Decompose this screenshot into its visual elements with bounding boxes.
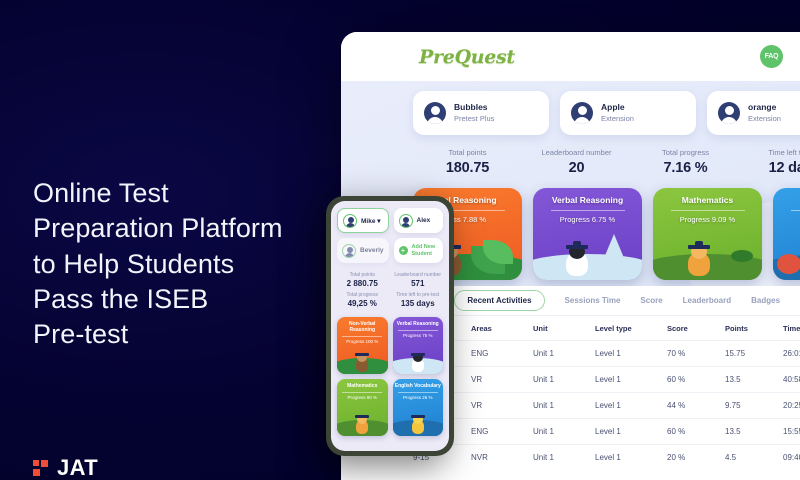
phone-stat-total-points: Total points 2 880.75 bbox=[337, 272, 388, 288]
tab-recent-activities[interactable]: Recent Activities bbox=[454, 290, 544, 311]
phone-mockup: Mike ▾ Alex Beverly + Add New Student bbox=[326, 196, 454, 456]
logo-text: JATAPP bbox=[57, 455, 98, 480]
student-name: Alex bbox=[417, 217, 431, 224]
poster-canvas: Online Test Preparation Platform to Help… bbox=[0, 0, 800, 480]
subject-title: Mathematics bbox=[337, 379, 388, 389]
subject-card-english[interactable]: English Progress 4.92 bbox=[773, 188, 800, 280]
cell-unit: Unit 1 bbox=[533, 419, 595, 445]
page-title: Online Test Preparation Platform to Help… bbox=[33, 176, 333, 353]
cell-points: 15.75 bbox=[725, 341, 783, 367]
cell-time: 15:55 bbox=[783, 419, 800, 445]
cell-time: 09:40 bbox=[783, 445, 800, 471]
divider bbox=[671, 210, 745, 211]
subject-progress: Progress 75 % bbox=[393, 333, 444, 338]
cell-area: NVR bbox=[471, 445, 533, 471]
subject-progress: Progress 100 % bbox=[337, 339, 388, 344]
cell-level: Level 1 bbox=[595, 445, 667, 471]
cell-points: 9.75 bbox=[725, 393, 783, 419]
col-time: Time bbox=[783, 316, 800, 341]
table-row[interactable]: 9-17 VR Unit 1 Level 1 60 % 13.5 40:58 1… bbox=[413, 367, 800, 393]
phone-stat-leaderboard: Leaderboard number 571 bbox=[393, 272, 444, 288]
student-avatar-icon bbox=[343, 214, 357, 228]
cell-unit: Unit 1 bbox=[533, 445, 595, 471]
stat-leaderboard-number: Leaderboard number 20 bbox=[522, 148, 631, 176]
cell-level: Level 1 bbox=[595, 393, 667, 419]
phone-subject-card-vr[interactable]: Verbal Reasoning Progress 75 % bbox=[393, 317, 444, 374]
col-score: Score bbox=[667, 316, 725, 341]
faq-button[interactable]: FAQ bbox=[760, 45, 783, 68]
tab-badges[interactable]: Badges bbox=[751, 296, 780, 305]
subject-progress: Progress 9.09 % bbox=[653, 215, 762, 224]
logo-squares-icon bbox=[33, 460, 50, 477]
subject-illustration bbox=[533, 222, 642, 280]
logo-jat: JAT bbox=[57, 455, 98, 480]
subject-title: Non-Verbal Reasoning bbox=[337, 317, 388, 333]
table-row[interactable]: 9-15 ENG Unit 1 Level 1 60 % 13.5 15:55 … bbox=[413, 419, 800, 445]
prequest-logo[interactable]: PreQuest bbox=[419, 46, 515, 68]
stat-value: 180.75 bbox=[413, 160, 522, 176]
phone-subject-card-english[interactable]: English Vocabulary Progress 26 % bbox=[393, 379, 444, 436]
student-card[interactable]: Apple Extension bbox=[560, 91, 696, 135]
cell-area: ENG bbox=[471, 341, 533, 367]
stat-value: 7.16 % bbox=[631, 160, 740, 176]
cell-points: 13.5 bbox=[725, 367, 783, 393]
phone-subject-grid: Non-Verbal Reasoning Progress 100 % Verb… bbox=[337, 317, 443, 436]
table-header-row: Areas Unit Level type Score Points Time … bbox=[413, 316, 800, 341]
subject-illustration bbox=[653, 222, 762, 280]
stat-label: Time left to pre-test bbox=[393, 292, 444, 298]
tab-bar: gress Recent Activities Sessions Time Sc… bbox=[413, 286, 800, 316]
subject-title: English Vocabulary bbox=[393, 379, 444, 389]
phone-add-new-student-button[interactable]: + Add New Student bbox=[394, 238, 444, 263]
phone-stats: Total points 2 880.75 Leaderboard number… bbox=[337, 272, 443, 308]
cell-points: 4.5 bbox=[725, 445, 783, 471]
phone-stat-time-left: Time left to pre-test 135 days bbox=[393, 292, 444, 308]
subject-progress: Progress 80 % bbox=[337, 395, 388, 400]
tab-leaderboard[interactable]: Leaderboard bbox=[683, 296, 731, 305]
jatapp-logo: JATAPP bbox=[33, 455, 98, 480]
phone-student-card-mike[interactable]: Mike ▾ bbox=[337, 208, 389, 233]
cell-level: Level 1 bbox=[595, 419, 667, 445]
stats-row: Total points 180.75 Leaderboard number 2… bbox=[341, 135, 800, 188]
student-card[interactable]: Bubbles Pretest Plus bbox=[413, 91, 549, 135]
cell-area: ENG bbox=[471, 419, 533, 445]
stat-total-points: Total points 180.75 bbox=[413, 148, 522, 176]
col-unit: Unit bbox=[533, 316, 595, 341]
col-points: Points bbox=[725, 316, 783, 341]
subject-card-mathematics[interactable]: Mathematics Progress 9.09 % bbox=[653, 188, 762, 280]
divider bbox=[551, 210, 625, 211]
student-card-list: Bubbles Pretest Plus Apple Extension ora… bbox=[341, 91, 800, 135]
stat-label: Total progress bbox=[631, 148, 740, 157]
table-row[interactable]: 9-17 ENG Unit 1 Level 1 70 % 15.75 26:01… bbox=[413, 341, 800, 367]
student-avatar-icon bbox=[399, 214, 413, 228]
phone-subject-card-math[interactable]: Mathematics Progress 80 % bbox=[337, 379, 388, 436]
cell-score: 20 % bbox=[667, 445, 725, 471]
col-areas: Areas bbox=[471, 316, 533, 341]
student-avatar-icon bbox=[424, 102, 446, 124]
activities-table: Areas Unit Level type Score Points Time … bbox=[413, 316, 800, 470]
add-label-line1: Add New bbox=[412, 244, 436, 251]
cell-level: Level 1 bbox=[595, 341, 667, 367]
phone-screen: Mike ▾ Alex Beverly + Add New Student bbox=[331, 201, 449, 451]
student-name: Bubbles bbox=[454, 102, 494, 113]
stat-label: Time left to pre- bbox=[740, 148, 800, 157]
header-icons: FAQ 🔔 ● bbox=[760, 45, 800, 68]
student-avatar-icon bbox=[571, 102, 593, 124]
stat-label: Leaderboard number bbox=[393, 272, 444, 278]
cell-score: 70 % bbox=[667, 341, 725, 367]
stat-value: 135 days bbox=[393, 299, 444, 308]
cell-area: VR bbox=[471, 393, 533, 419]
stat-label: Total points bbox=[413, 148, 522, 157]
stat-label: Total progress bbox=[337, 292, 388, 298]
stat-value: 49,25 % bbox=[337, 299, 388, 308]
tab-sessions-time[interactable]: Sessions Time bbox=[565, 296, 621, 305]
cell-unit: Unit 1 bbox=[533, 393, 595, 419]
app-header: PreQuest FAQ 🔔 ● bbox=[341, 32, 800, 81]
student-avatar-icon bbox=[342, 244, 356, 258]
col-level-type: Level type bbox=[595, 316, 667, 341]
phone-subject-card-nvr[interactable]: Non-Verbal Reasoning Progress 100 % bbox=[337, 317, 388, 374]
student-name: Apple bbox=[601, 102, 634, 113]
subject-title: Verbal Reasoning bbox=[393, 317, 444, 327]
cell-time: 20:25 bbox=[783, 393, 800, 419]
stat-value: 12 days bbox=[740, 160, 800, 176]
stat-label: Total points bbox=[337, 272, 388, 278]
cell-score: 60 % bbox=[667, 367, 725, 393]
cell-unit: Unit 1 bbox=[533, 341, 595, 367]
table-row[interactable]: 9-15 VR Unit 1 Level 1 44 % 9.75 20:25 9… bbox=[413, 393, 800, 419]
subject-progress: Progress 26 % bbox=[393, 395, 444, 400]
divider bbox=[791, 210, 800, 211]
stat-total-progress: Total progress 7.16 % bbox=[631, 148, 740, 176]
subject-progress: Progress 6.75 % bbox=[533, 215, 642, 224]
plus-icon: + bbox=[399, 246, 408, 255]
student-name: Beverly bbox=[360, 247, 384, 254]
cell-points: 13.5 bbox=[725, 419, 783, 445]
cell-score: 60 % bbox=[667, 419, 725, 445]
phone-student-card-beverly[interactable]: Beverly bbox=[337, 238, 389, 263]
student-avatar-icon bbox=[718, 102, 740, 124]
student-name: orange bbox=[748, 102, 781, 113]
phone-student-grid: Mike ▾ Alex Beverly + Add New Student bbox=[337, 208, 443, 263]
student-card[interactable]: orange Extension bbox=[707, 91, 800, 135]
cell-time: 26:01 bbox=[783, 341, 800, 367]
phone-stat-total-progress: Total progress 49,25 % bbox=[337, 292, 388, 308]
student-plan: Pretest Plus bbox=[454, 114, 494, 124]
tab-score[interactable]: Score bbox=[640, 296, 662, 305]
student-plan: Extension bbox=[748, 114, 781, 124]
student-name: Mike ▾ bbox=[361, 217, 381, 225]
stat-time-left: Time left to pre- 12 days bbox=[740, 148, 800, 176]
cell-level: Level 1 bbox=[595, 367, 667, 393]
subject-illustration bbox=[773, 222, 800, 280]
stat-value: 2 880.75 bbox=[337, 279, 388, 288]
cell-score: 44 % bbox=[667, 393, 725, 419]
subject-title: English bbox=[773, 188, 800, 205]
cell-time: 40:58 bbox=[783, 367, 800, 393]
stat-label: Leaderboard number bbox=[522, 148, 631, 157]
stat-value: 571 bbox=[393, 279, 444, 288]
cell-unit: Unit 1 bbox=[533, 367, 595, 393]
table-row[interactable]: 9-15 NVR Unit 1 Level 1 20 % 4.5 09:40 9… bbox=[413, 445, 800, 471]
student-plan: Extension bbox=[601, 114, 634, 124]
phone-student-card-alex[interactable]: Alex bbox=[394, 208, 444, 233]
stat-value: 20 bbox=[522, 160, 631, 176]
subject-card-verbal-reasoning[interactable]: Verbal Reasoning Progress 6.75 % bbox=[533, 188, 642, 280]
subject-progress: Progress 4.92 bbox=[773, 215, 800, 224]
subject-title: Mathematics bbox=[653, 188, 762, 205]
add-label-line2: Student bbox=[412, 251, 436, 258]
cell-area: VR bbox=[471, 367, 533, 393]
subject-title: Verbal Reasoning bbox=[533, 188, 642, 205]
